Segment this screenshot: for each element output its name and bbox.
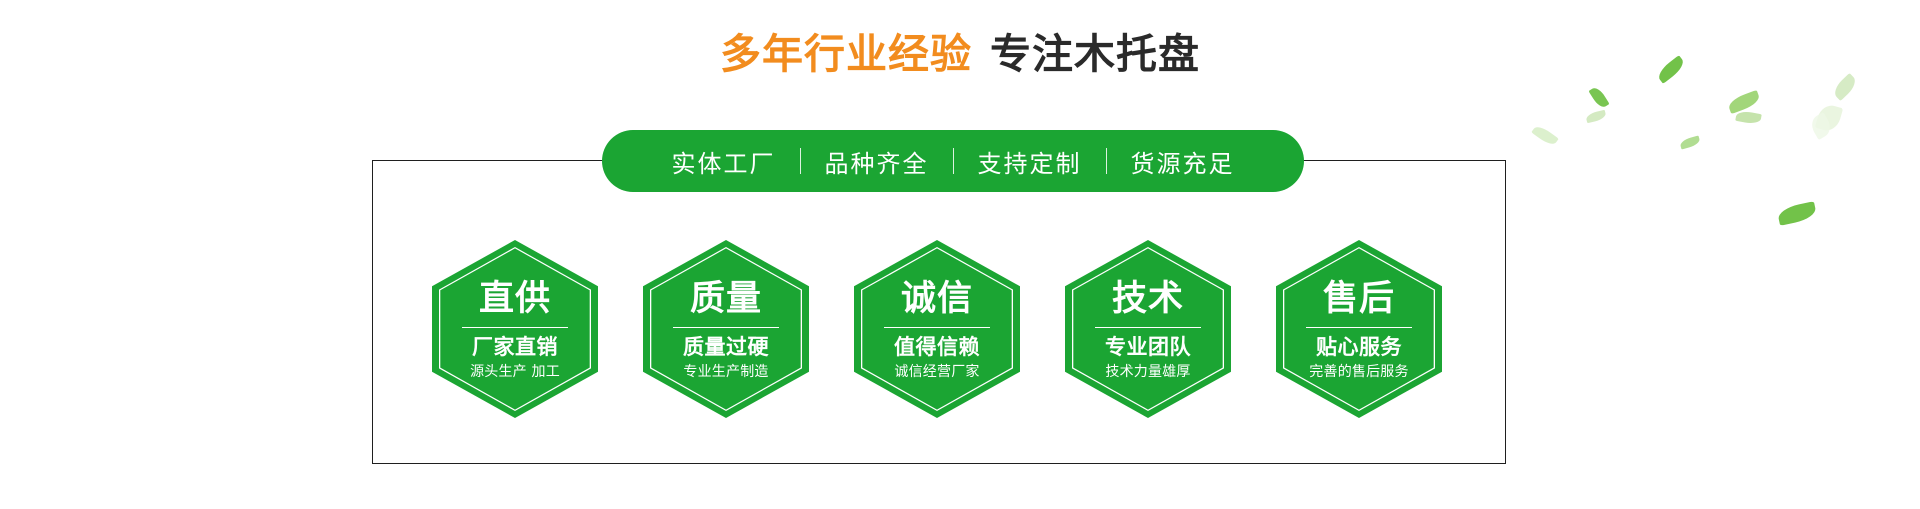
- hexagon-divider: [673, 327, 779, 329]
- hexagon-title: 质量: [690, 281, 762, 319]
- hexagon-description: 技术力量雄厚: [1105, 364, 1190, 381]
- leaf-icon: [1589, 85, 1610, 109]
- hexagon-divider: [1306, 327, 1412, 329]
- headline-highlight: 多年行业经验: [720, 30, 972, 78]
- leaf-icon: [1808, 112, 1835, 140]
- hexagon-description: 源头生产 加工: [470, 364, 560, 381]
- hexagon-description: 完善的售后服务: [1309, 364, 1408, 381]
- hexagon-subtitle: 值得信赖: [894, 335, 980, 359]
- hexagon-title: 直供: [479, 281, 551, 319]
- hexagon-subtitle: 厂家直销: [472, 335, 558, 359]
- hexagon-title: 技术: [1112, 281, 1184, 319]
- pill-item-3[interactable]: 支持定制: [954, 144, 1106, 179]
- hexagon-badge-1[interactable]: 直供 厂家直销 源头生产 加工: [432, 240, 598, 418]
- hexagon-badge-5[interactable]: 售后 贴心服务 完善的售后服务: [1276, 240, 1442, 418]
- hexagon-divider: [462, 327, 568, 329]
- leaf-icon: [1585, 110, 1607, 124]
- hexagon-title: 售后: [1323, 281, 1395, 319]
- pill-item-4[interactable]: 货源充足: [1107, 144, 1259, 179]
- leaf-icon: [1727, 90, 1762, 114]
- headline-rest: 专注木托盘: [990, 30, 1200, 78]
- hexagon-badge-3[interactable]: 诚信 值得信赖 诚信经营厂家: [854, 240, 1020, 418]
- hexagon-badge-2[interactable]: 质量 质量过硬 专业生产制造: [643, 240, 809, 418]
- hexagon-subtitle: 贴心服务: [1316, 335, 1402, 359]
- leaf-icon: [1831, 73, 1859, 101]
- hexagon-subtitle: 专业团队: [1105, 335, 1191, 359]
- leaf-icon: [1815, 102, 1843, 133]
- pill-item-2[interactable]: 品种齐全: [801, 144, 953, 179]
- feature-pill-bar: 实体工厂 品种齐全 支持定制 货源充足: [602, 130, 1304, 192]
- hexagon-content: 直供 厂家直销 源头生产 加工: [432, 281, 598, 381]
- hexagon-description: 专业生产制造: [683, 364, 768, 381]
- hexagon-content: 售后 贴心服务 完善的售后服务: [1276, 281, 1442, 381]
- hexagon-subtitle: 质量过硬: [683, 335, 769, 359]
- hexagon-content: 诚信 值得信赖 诚信经营厂家: [854, 281, 1020, 381]
- hexagon-divider: [1095, 327, 1201, 329]
- leaf-icon: [1531, 123, 1559, 147]
- pill-item-1[interactable]: 实体工厂: [648, 144, 800, 179]
- leaf-icon: [1735, 110, 1762, 125]
- hexagon-content: 技术 专业团队 技术力量雄厚: [1065, 281, 1231, 381]
- hexagon-title: 诚信: [901, 281, 973, 319]
- page-title: 多年行业经验专注木托盘: [0, 34, 1920, 75]
- hexagon-divider: [884, 327, 990, 329]
- leaf-icon: [1679, 135, 1701, 149]
- leaf-icon: [1777, 201, 1818, 226]
- hexagon-content: 质量 质量过硬 专业生产制造: [643, 281, 809, 381]
- promo-banner: 多年行业经验专注木托盘 实体工厂 品种齐全 支持定制 货源充足 直供 厂家直销 …: [0, 0, 1920, 509]
- hexagon-badge-4[interactable]: 技术 专业团队 技术力量雄厚: [1065, 240, 1231, 418]
- hexagon-description: 诚信经营厂家: [894, 364, 979, 381]
- hexagon-badge-row: 直供 厂家直销 源头生产 加工 质量 质量过硬 专业生产制造 诚信 值得信赖: [432, 240, 1442, 420]
